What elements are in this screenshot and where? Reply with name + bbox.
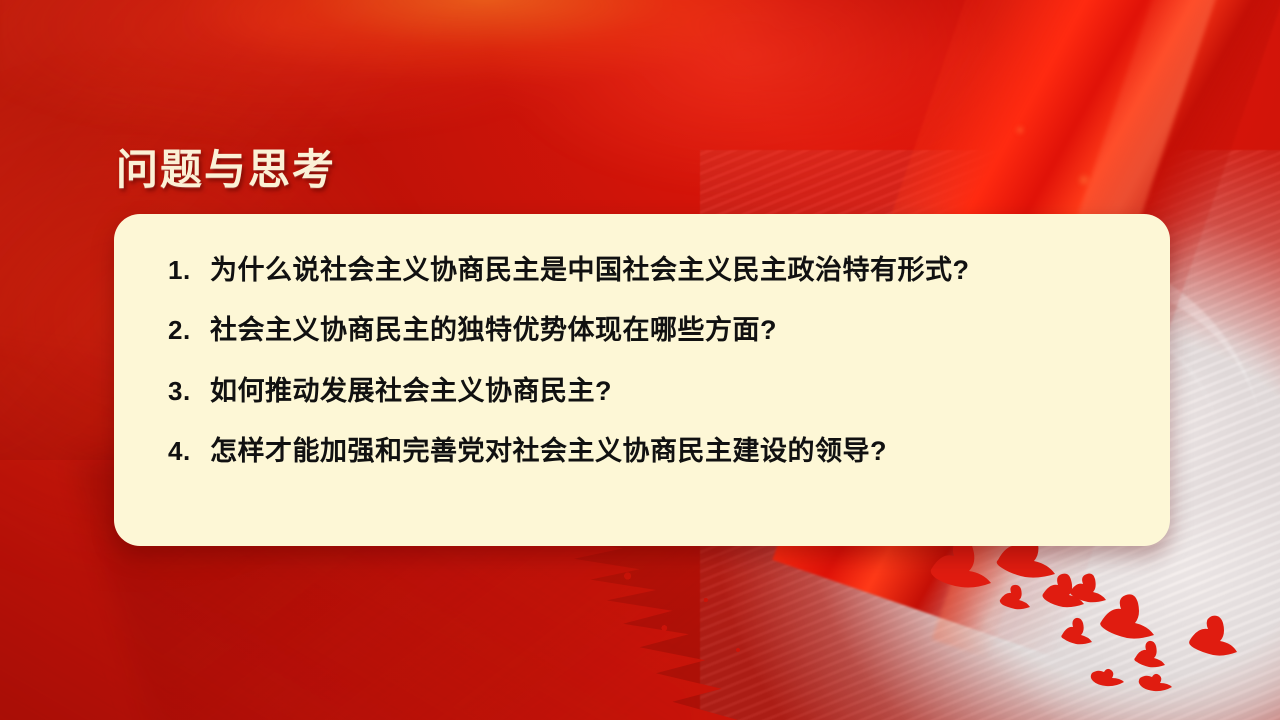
list-item-number: 1. — [168, 255, 210, 286]
presentation-slide: 问题与思考 1. 为什么说社会主义协商民主是中国社会主义民主政治特有形式? 2.… — [0, 0, 1280, 720]
questions-list: 1. 为什么说社会主义协商民主是中国社会主义民主政治特有形式? 2. 社会主义协… — [114, 214, 1170, 468]
list-item: 4. 怎样才能加强和完善党对社会主义协商民主建设的领导? — [168, 435, 1126, 467]
list-item: 1. 为什么说社会主义协商民主是中国社会主义民主政治特有形式? — [168, 254, 1126, 286]
list-item: 2. 社会主义协商民主的独特优势体现在哪些方面? — [168, 314, 1126, 346]
questions-card: 1. 为什么说社会主义协商民主是中国社会主义民主政治特有形式? 2. 社会主义协… — [114, 214, 1170, 546]
list-item-number: 3. — [168, 376, 210, 407]
list-item: 3. 如何推动发展社会主义协商民主? — [168, 375, 1126, 407]
list-item-text: 为什么说社会主义协商民主是中国社会主义民主政治特有形式? — [210, 254, 1126, 286]
list-item-number: 2. — [168, 315, 210, 346]
list-item-text: 如何推动发展社会主义协商民主? — [210, 375, 1126, 407]
page-title: 问题与思考 — [116, 136, 336, 197]
list-item-text: 怎样才能加强和完善党对社会主义协商民主建设的领导? — [210, 435, 1126, 467]
list-item-number: 4. — [168, 436, 210, 467]
list-item-text: 社会主义协商民主的独特优势体现在哪些方面? — [210, 314, 1126, 346]
